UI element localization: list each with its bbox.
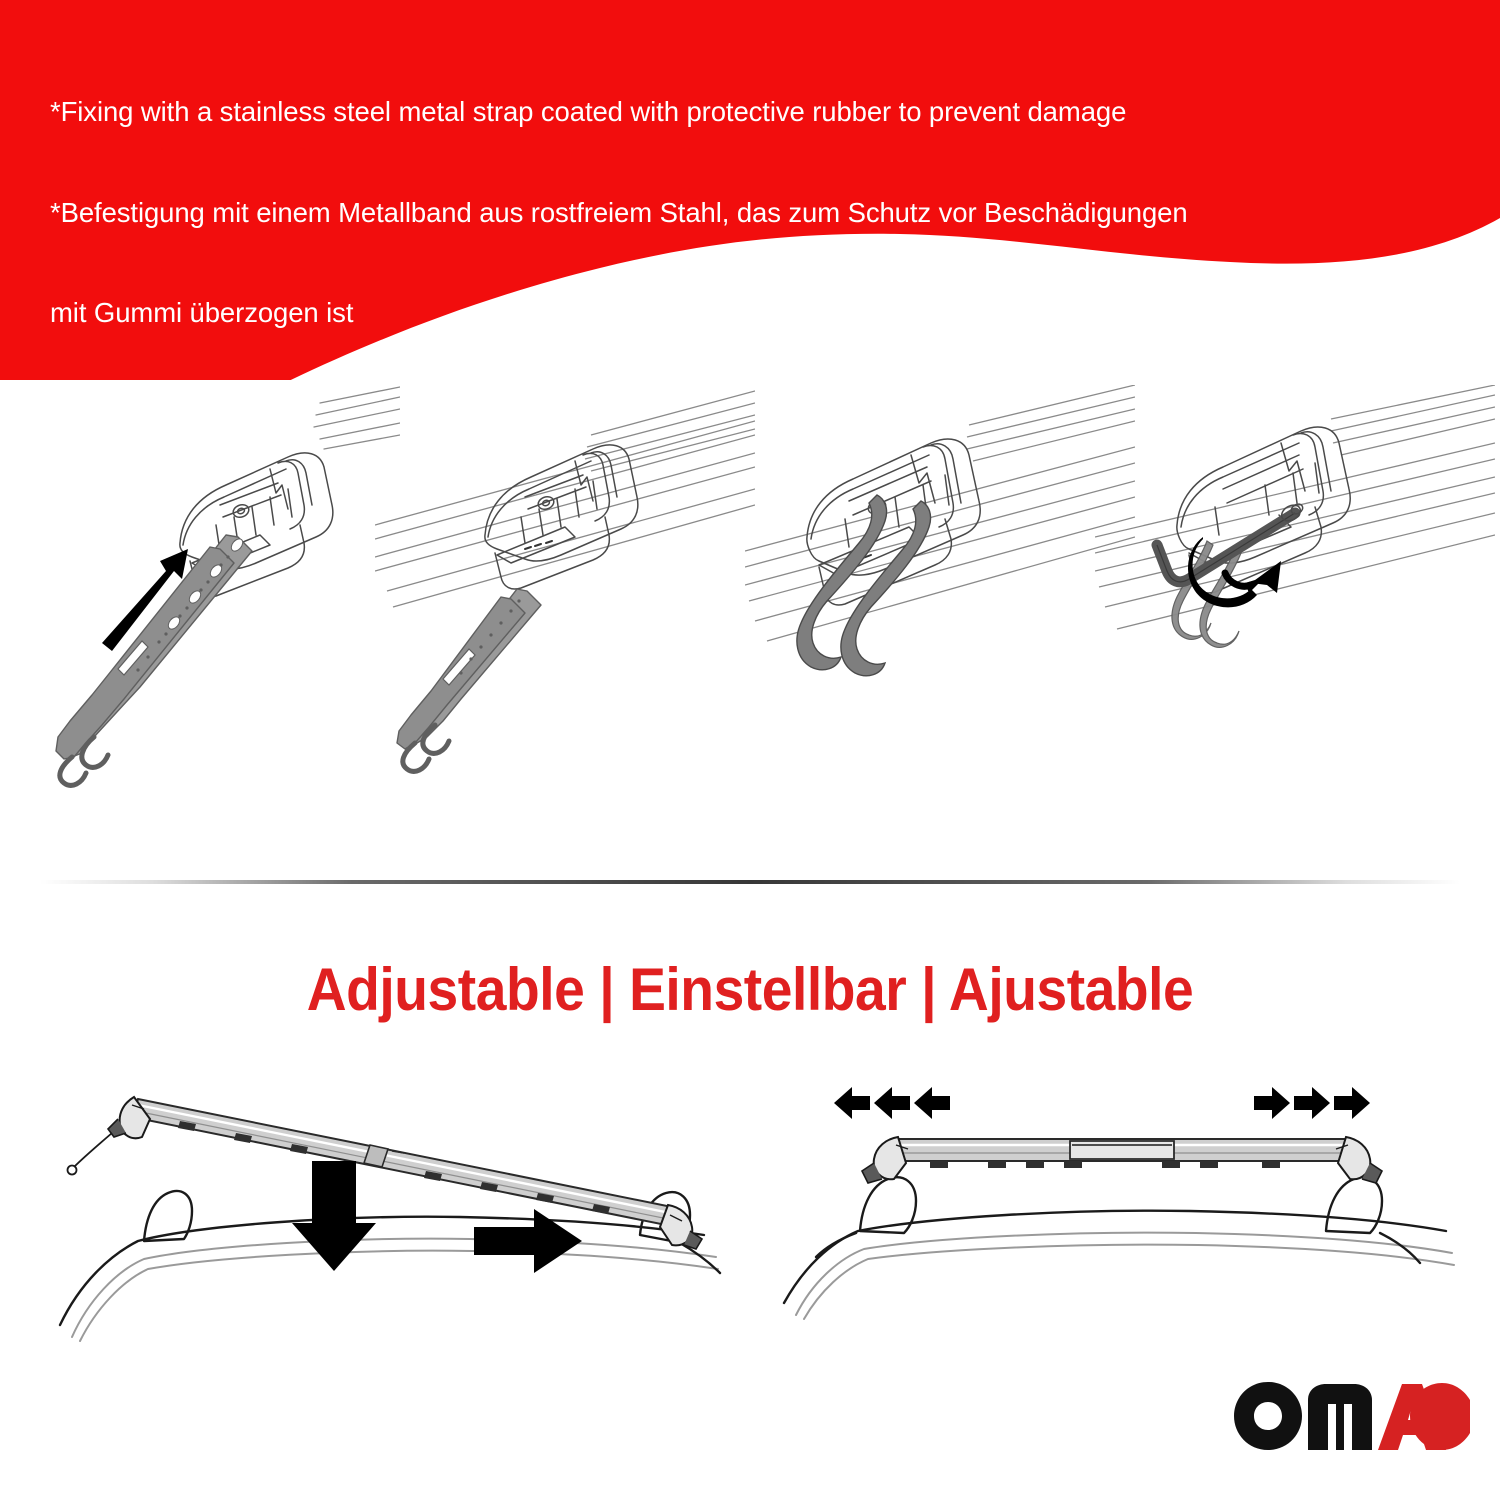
banner-line-2: *Befestigung mit einem Metallband aus ro… <box>50 196 1450 230</box>
section-divider <box>40 880 1460 884</box>
crossbar-level <box>862 1137 1382 1183</box>
step-3-illustration <box>745 385 1135 855</box>
step-2-position-foot <box>375 385 755 855</box>
banner-line-3: mit Gummi überzogen ist <box>50 296 1450 330</box>
step-1-insert-strap <box>20 385 400 855</box>
step-1-illustration <box>20 385 400 855</box>
step-2-illustration <box>375 385 755 855</box>
step-3-wrap-strap <box>745 385 1135 855</box>
wrapped-strap-bands <box>797 495 931 676</box>
crossbar-tilt-illustration <box>40 1075 760 1375</box>
omac-logo-mark <box>1232 1378 1472 1452</box>
step-4-tighten-bolt <box>1095 385 1495 855</box>
crossbar-width-illustration <box>770 1075 1470 1375</box>
metal-strap <box>56 535 252 785</box>
triple-left-arrow <box>834 1087 950 1119</box>
banner-line-1: *Fixing with a stainless steel metal str… <box>50 95 1450 129</box>
omac-logo <box>1232 1378 1472 1452</box>
crossbar-tilt-placement <box>40 1075 760 1375</box>
crossbar-width-adjust <box>770 1075 1470 1375</box>
adjustable-heading: Adjustable | Einstellbar | Ajustable <box>60 955 1440 1024</box>
adjustability-diagrams-row <box>0 1075 1500 1375</box>
product-infographic: *Fixing with a stainless steel metal str… <box>0 0 1500 1500</box>
step-4-illustration <box>1095 385 1495 855</box>
installation-steps-row <box>0 385 1500 855</box>
header-banner: *Fixing with a stainless steel metal str… <box>0 0 1500 380</box>
metal-strap <box>397 589 541 771</box>
triple-right-arrow <box>1254 1087 1370 1119</box>
crossbar-tilted <box>68 1097 703 1249</box>
